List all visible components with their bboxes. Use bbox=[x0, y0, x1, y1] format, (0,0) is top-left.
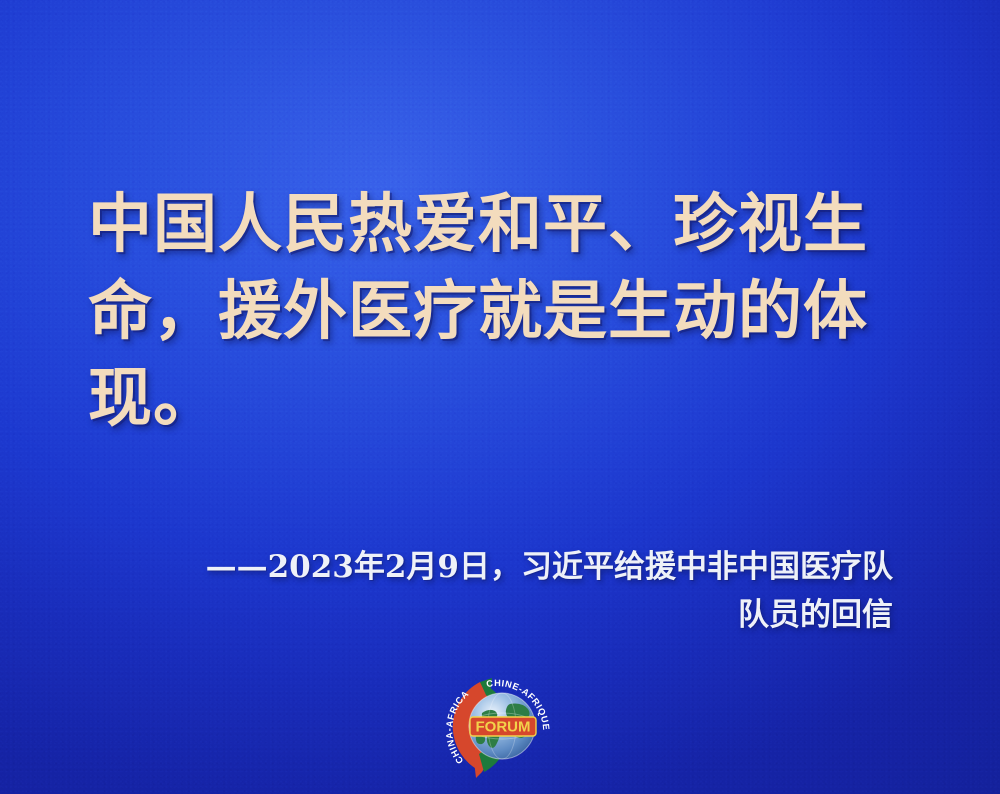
quote-attribution: ——2023年2月9日，习近平给援中非中国医疗队 队员的回信 bbox=[133, 543, 893, 639]
logo-forum-banner: FORUM bbox=[470, 717, 536, 736]
poster-canvas: 中国人民热爱和平、珍视生命，援外医疗就是生动的体现。 ——2023年2月9日，习… bbox=[0, 0, 1000, 794]
focac-logo-svg: CHINA-AFRICA CHINE-AFRIQUE bbox=[440, 668, 566, 786]
logo-forum-text: FORUM bbox=[476, 719, 531, 736]
attribution-line-1: ——2023年2月9日，习近平给援中非中国医疗队 bbox=[133, 543, 893, 591]
focac-logo: CHINA-AFRICA CHINE-AFRIQUE bbox=[440, 668, 566, 786]
page-title: 中国人民热爱和平、珍视生命，援外医疗就是生动的体现。 bbox=[88, 181, 900, 442]
attribution-line-2: 队员的回信 bbox=[133, 591, 893, 639]
